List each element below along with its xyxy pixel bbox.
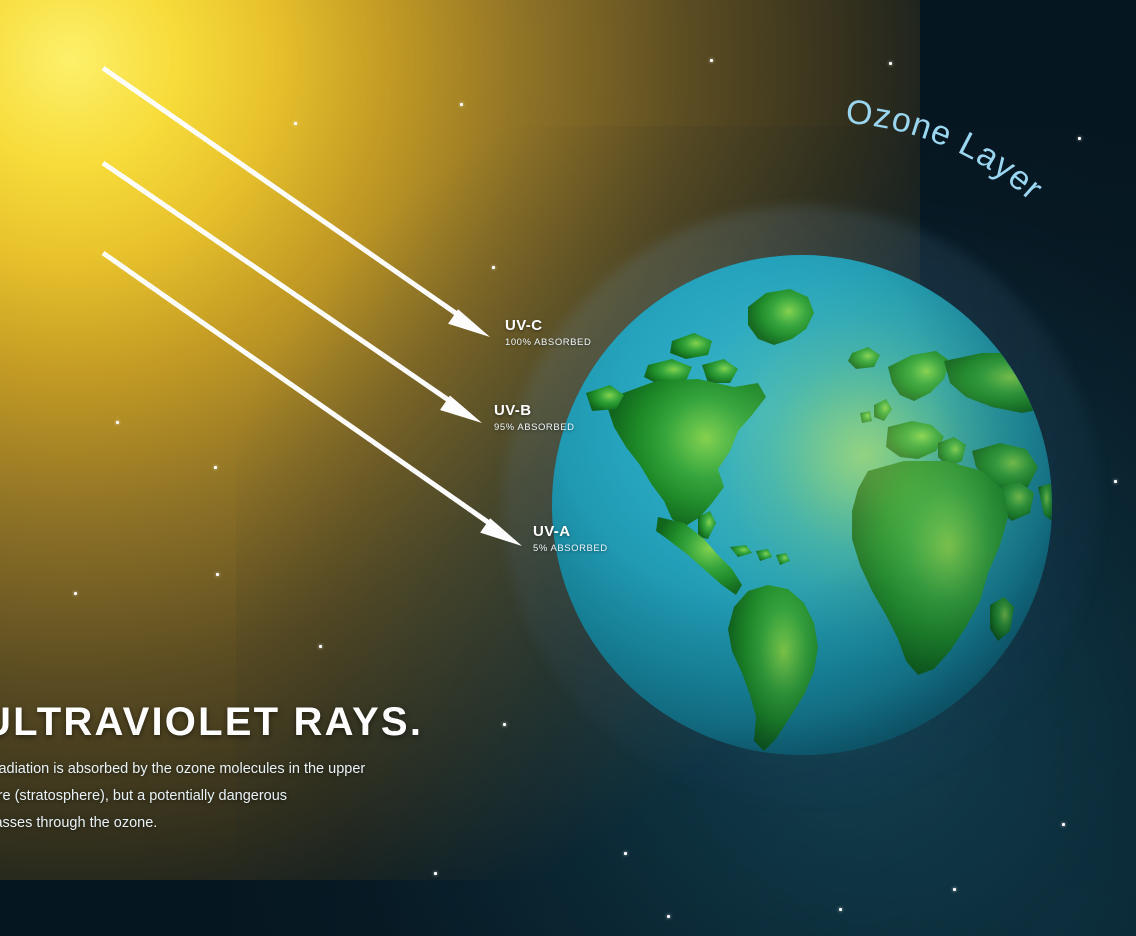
description-paragraph: Most UV radiation is absorbed by the ozo… [0, 756, 404, 837]
infographic-canvas: Ozone Layer UV-C100% ABSORBEDUV-B95% ABS… [0, 0, 1136, 936]
star-dot [460, 103, 463, 106]
star-dot [216, 573, 219, 576]
uv-band-absorption: 95% ABSORBED [494, 422, 575, 433]
star-dot [889, 62, 892, 65]
star-dot [839, 908, 842, 911]
uv-band-uv-a: UV-A5% ABSORBED [533, 524, 608, 554]
star-dot [503, 723, 506, 726]
star-dot [953, 888, 956, 891]
star-dot [116, 421, 119, 424]
uv-band-absorption: 5% ABSORBED [533, 543, 608, 554]
star-dot [710, 59, 713, 62]
page-title-text: ULTRAVIOLET RAYS [0, 700, 410, 744]
star-dot [294, 122, 297, 125]
star-dot [1114, 480, 1117, 483]
earth-continents [552, 255, 1052, 755]
star-dot [1062, 823, 1065, 826]
star-dot [667, 915, 670, 918]
uv-band-uv-c: UV-C100% ABSORBED [505, 318, 591, 348]
description-line: Most UV radiation is absorbed by the ozo… [0, 756, 404, 783]
star-dot [492, 266, 495, 269]
star-dot [1078, 137, 1081, 140]
page-title: ULTRAVIOLET RAYS. [0, 700, 423, 745]
uv-band-name: UV-B [494, 403, 575, 419]
earth-sphere [552, 255, 1052, 755]
star-dot [319, 645, 322, 648]
uv-band-uv-b: UV-B95% ABSORBED [494, 403, 575, 433]
page-title-period: . [410, 700, 423, 744]
description-line: atmosphere (stratosphere), but a potenti… [0, 783, 404, 810]
star-dot [74, 592, 77, 595]
star-dot [214, 466, 217, 469]
star-dot [434, 872, 437, 875]
star-dot [624, 852, 627, 855]
uv-band-absorption: 100% ABSORBED [505, 337, 591, 348]
description-line: amount passes through the ozone. [0, 810, 404, 837]
uv-band-name: UV-A [533, 524, 608, 540]
uv-band-name: UV-C [505, 318, 591, 334]
